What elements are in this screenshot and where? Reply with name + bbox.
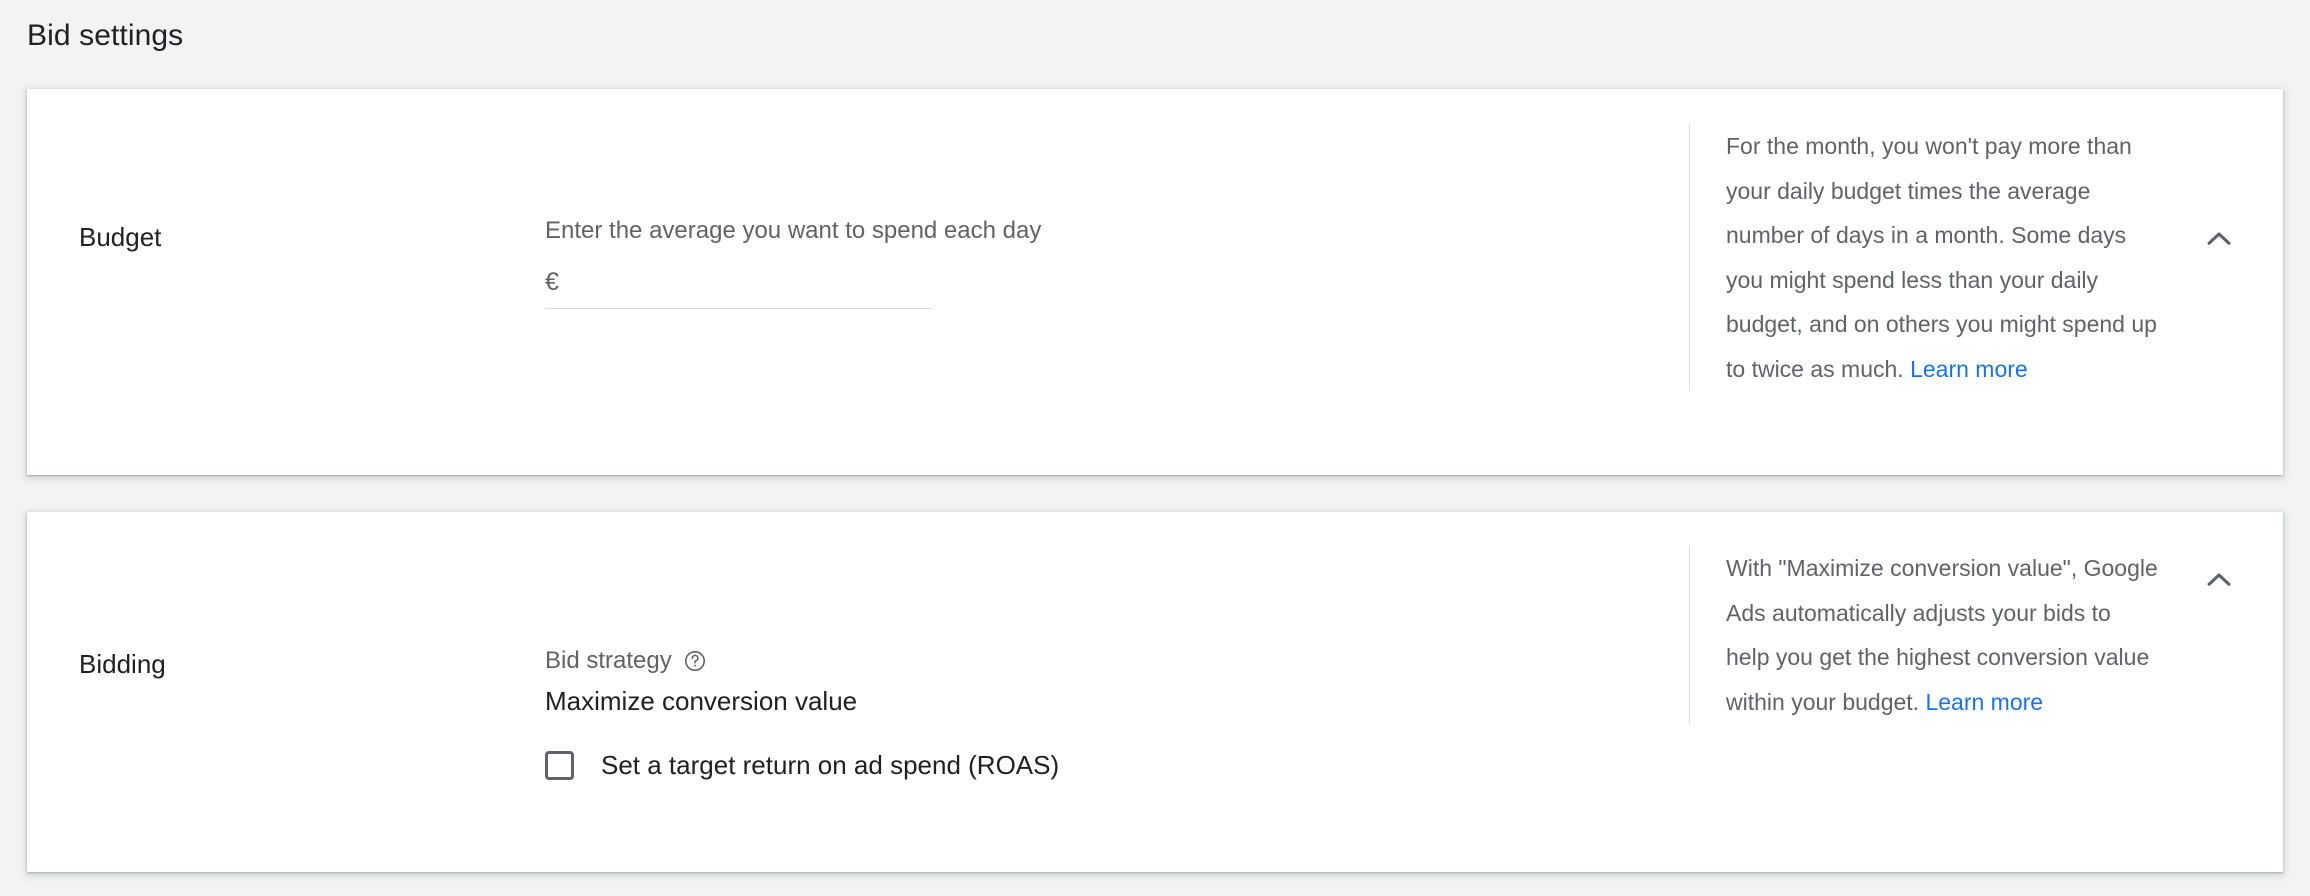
bidding-field-column: Bid strategy Maximize conversion value S… [545, 645, 1059, 781]
budget-collapse-button[interactable] [2195, 215, 2243, 263]
bid-settings-page: Bid settings Budget Enter the average yo… [0, 0, 2310, 896]
currency-symbol: € [545, 266, 565, 298]
budget-side-note-text: For the month, you won't pay more than y… [1726, 133, 2157, 382]
page-title: Bid settings [27, 18, 183, 54]
bidding-learn-more-link[interactable]: Learn more [1925, 689, 2043, 715]
budget-card: Budget Enter the average you want to spe… [27, 89, 2283, 475]
budget-field-caption: Enter the average you want to spend each… [545, 215, 1041, 247]
bidding-section-label: Bidding [79, 647, 166, 681]
daily-budget-input[interactable] [565, 266, 933, 298]
chevron-up-icon [2202, 222, 2236, 256]
bidding-card: Bidding Bid strategy Maximize conversion… [27, 512, 2283, 872]
bidding-side-note: With "Maximize conversion value", Google… [1689, 546, 2159, 724]
target-roas-checkbox-label: Set a target return on ad spend (ROAS) [601, 749, 1059, 781]
daily-budget-input-row[interactable]: € [545, 266, 933, 309]
budget-section-label: Budget [79, 220, 161, 254]
help-circle-icon[interactable] [683, 649, 707, 673]
bid-strategy-value: Maximize conversion value [545, 683, 1059, 719]
target-roas-checkbox-row[interactable]: Set a target return on ad spend (ROAS) [545, 749, 1059, 781]
budget-field-column: Enter the average you want to spend each… [545, 215, 1041, 309]
budget-side-note: For the month, you won't pay more than y… [1689, 124, 2159, 391]
target-roas-checkbox[interactable] [545, 751, 574, 780]
budget-learn-more-link[interactable]: Learn more [1910, 356, 2028, 382]
bid-strategy-caption: Bid strategy [545, 645, 672, 677]
bid-strategy-label-row: Bid strategy [545, 645, 1059, 677]
chevron-up-icon [2202, 563, 2236, 597]
bidding-collapse-button[interactable] [2195, 556, 2243, 604]
